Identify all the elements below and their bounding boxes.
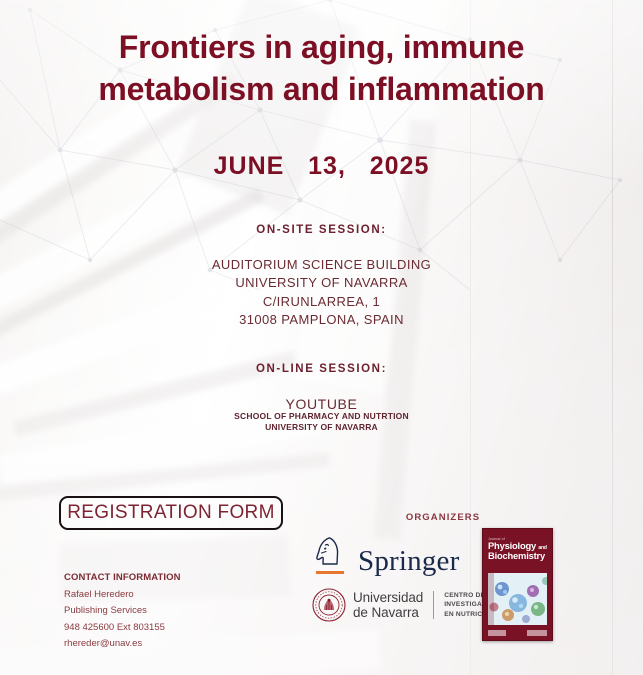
unav-name-line-2: de Navarra bbox=[353, 605, 423, 620]
poster-content: Frontiers in aging, immune metabolism an… bbox=[0, 0, 643, 675]
registration-form-button[interactable]: REGISTRATION FORM bbox=[59, 496, 283, 530]
title-line-1: Frontiers in aging, immune bbox=[0, 26, 643, 68]
unav-seal-icon bbox=[312, 588, 346, 622]
journal-publisher-logo bbox=[488, 630, 506, 636]
contact-heading: CONTACT INFORMATION bbox=[64, 570, 181, 587]
venue-name: AUDITORIUM SCIENCE BUILDING bbox=[0, 256, 643, 274]
journal-title-line-2: Biochemistry bbox=[488, 551, 547, 561]
unav-name-line-1: Universidad bbox=[353, 590, 423, 605]
online-session-organizer: SCHOOL OF PHARMACY AND NUTRTION UNIVERSI… bbox=[0, 411, 643, 434]
conference-poster: Frontiers in aging, immune metabolism an… bbox=[0, 0, 643, 675]
contact-phone: 948 425600 Ext 803155 bbox=[64, 620, 181, 637]
online-university: UNIVERSITY OF NAVARRA bbox=[0, 422, 643, 433]
journal-cover-header: Journal of Physiology and Biochemistry bbox=[483, 529, 552, 564]
unav-wordmark: Universidad de Navarra bbox=[353, 590, 423, 620]
journal-cover-illustration bbox=[488, 573, 547, 625]
online-platform: YOUTUBE bbox=[0, 396, 643, 412]
contact-name: Rafael Heredero bbox=[64, 587, 181, 604]
venue-city: 31008 PAMPLONA, SPAIN bbox=[0, 311, 643, 329]
onsite-session-address: AUDITORIUM SCIENCE BUILDING UNIVERSITY O… bbox=[0, 256, 643, 330]
springer-accent-bar bbox=[316, 571, 344, 574]
online-school: SCHOOL OF PHARMACY AND NUTRTION bbox=[0, 411, 643, 422]
journal-title-line-1: Physiology bbox=[488, 540, 536, 551]
event-date: JUNE 13, 2025 bbox=[0, 152, 643, 181]
springer-logo: Springer bbox=[313, 532, 459, 576]
journal-cover: Journal of Physiology and Biochemistry bbox=[482, 528, 553, 641]
journal-society-logo bbox=[527, 630, 547, 636]
page-title: Frontiers in aging, immune metabolism an… bbox=[0, 26, 643, 110]
online-session-heading: ON-LINE SESSION: bbox=[0, 363, 643, 375]
universidad-de-navarra-logo: Universidad de Navarra CENTRO DE INVESTI… bbox=[312, 588, 499, 622]
title-line-2: metabolism and inflammation bbox=[0, 68, 643, 110]
venue-university: UNIVERSITY OF NAVARRA bbox=[0, 274, 643, 292]
contact-email[interactable]: rhereder@unav.es bbox=[64, 636, 181, 653]
journal-cover-footer bbox=[483, 625, 552, 640]
contact-information: CONTACT INFORMATION Rafael Heredero Publ… bbox=[64, 570, 181, 653]
venue-street: C/IRUNLARREA, 1 bbox=[0, 293, 643, 311]
contact-role: Publishing Services bbox=[64, 603, 181, 620]
springer-wordmark: Springer bbox=[358, 548, 459, 576]
onsite-session-heading: ON-SITE SESSION: bbox=[0, 224, 643, 236]
springer-knight-icon bbox=[313, 532, 349, 576]
unav-divider bbox=[433, 591, 434, 619]
organizers-label: ORGANIZERS bbox=[398, 512, 488, 523]
